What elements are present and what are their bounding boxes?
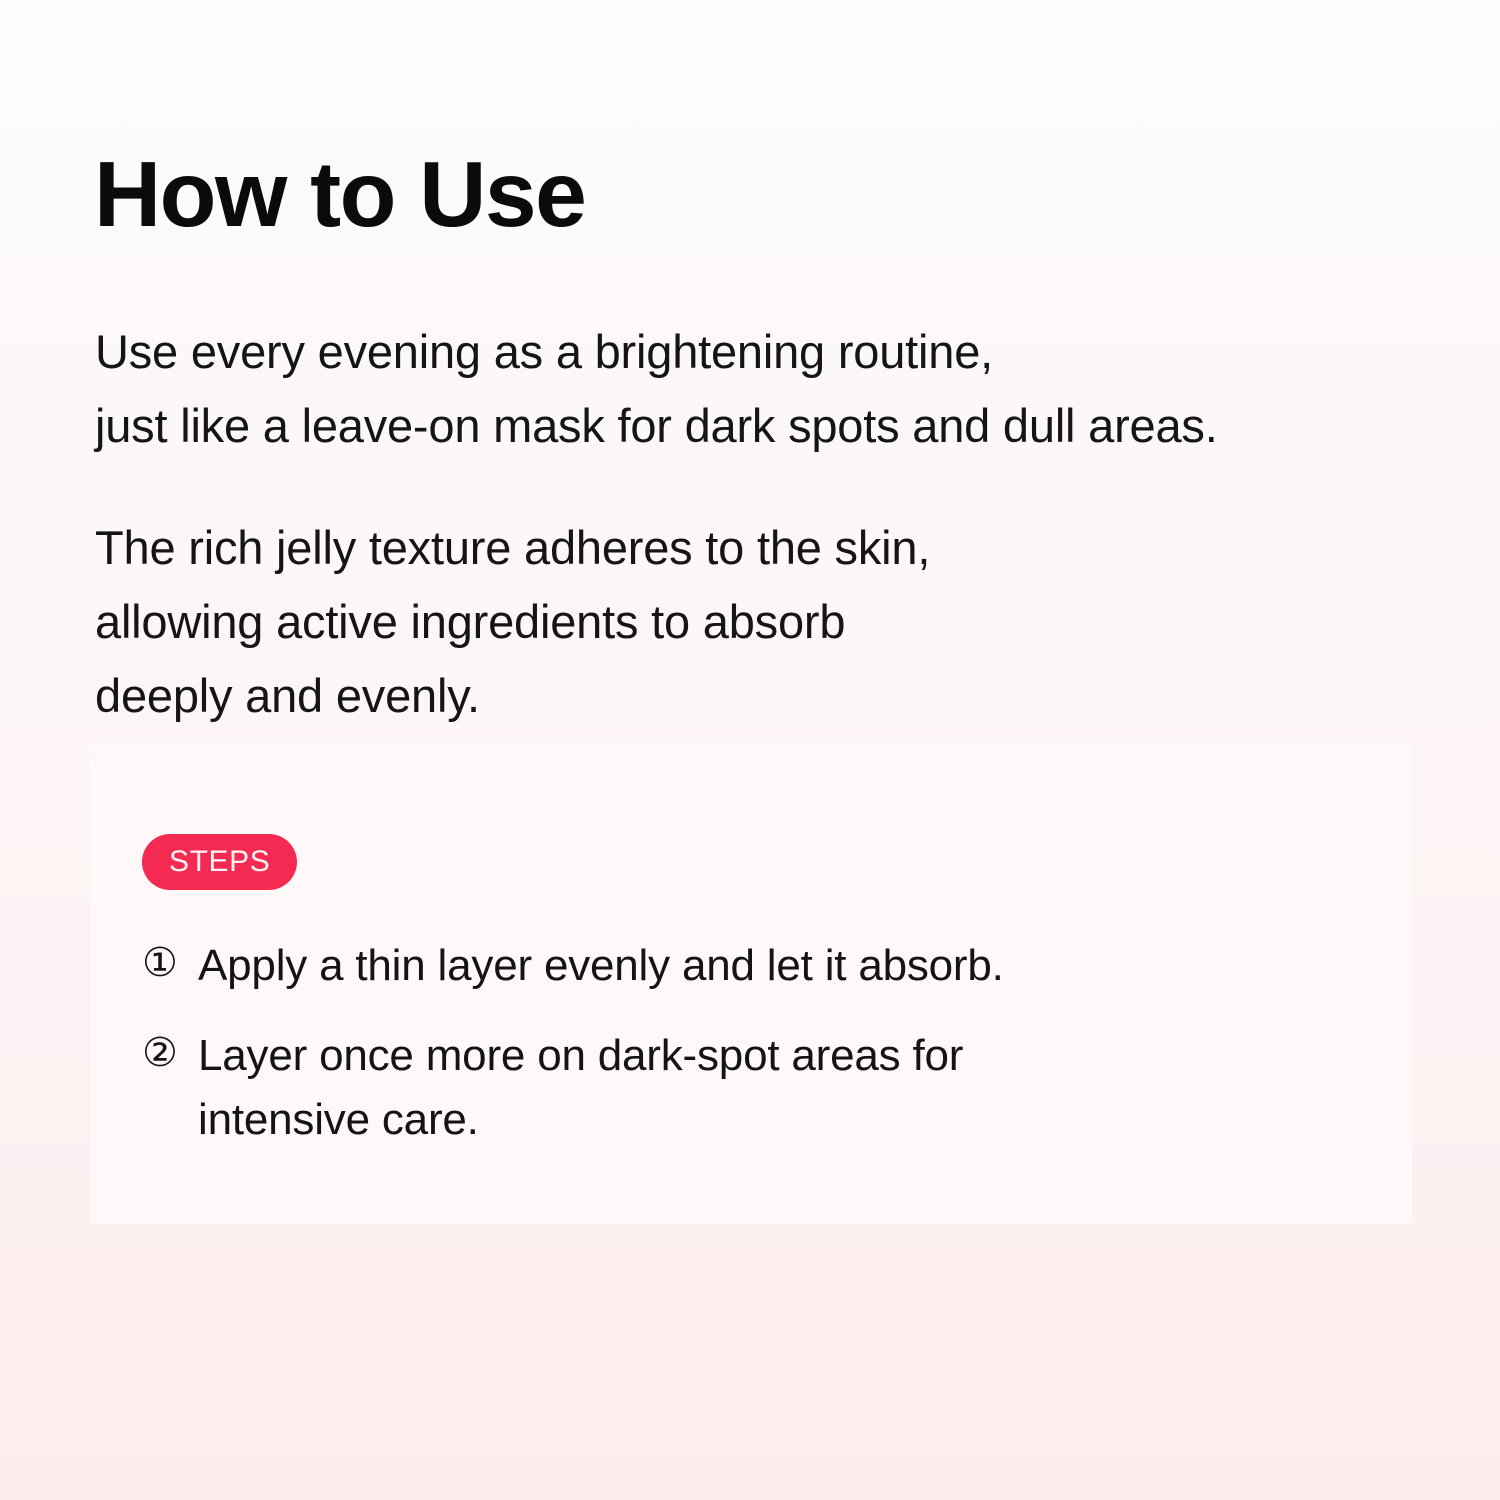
paragraph-texture-line-3: deeply and evenly. bbox=[95, 659, 1415, 733]
steps-card: STEPS ① Apply a thin layer evenly and le… bbox=[90, 742, 1412, 1224]
paragraph-usage-line-2: just like a leave-on mask for dark spots… bbox=[95, 389, 1415, 463]
step-text-1: Apply a thin layer evenly and let it abs… bbox=[198, 934, 1098, 998]
step-number-2-icon: ② bbox=[142, 1024, 198, 1082]
paragraph-usage-line-1: Use every evening as a brightening routi… bbox=[95, 315, 1415, 389]
steps-badge: STEPS bbox=[142, 834, 297, 890]
step-text-2: Layer once more on dark-spot areas for i… bbox=[198, 1024, 1098, 1152]
how-to-use-page: How to Use Use every evening as a bright… bbox=[0, 0, 1500, 1500]
paragraph-usage: Use every evening as a brightening routi… bbox=[95, 315, 1415, 464]
paragraph-texture-line-1: The rich jelly texture adheres to the sk… bbox=[95, 511, 1415, 585]
paragraph-texture-line-2: allowing active ingredients to absorb bbox=[95, 585, 1415, 659]
body-copy: Use every evening as a brightening routi… bbox=[95, 268, 1415, 780]
steps-list: ① Apply a thin layer evenly and let it a… bbox=[142, 934, 1322, 1177]
list-item: ② Layer once more on dark-spot areas for… bbox=[142, 1024, 1322, 1152]
paragraph-texture: The rich jelly texture adheres to the sk… bbox=[95, 511, 1415, 734]
list-item: ① Apply a thin layer evenly and let it a… bbox=[142, 934, 1322, 998]
page-title: How to Use bbox=[94, 146, 585, 244]
step-number-1-icon: ① bbox=[142, 934, 198, 992]
